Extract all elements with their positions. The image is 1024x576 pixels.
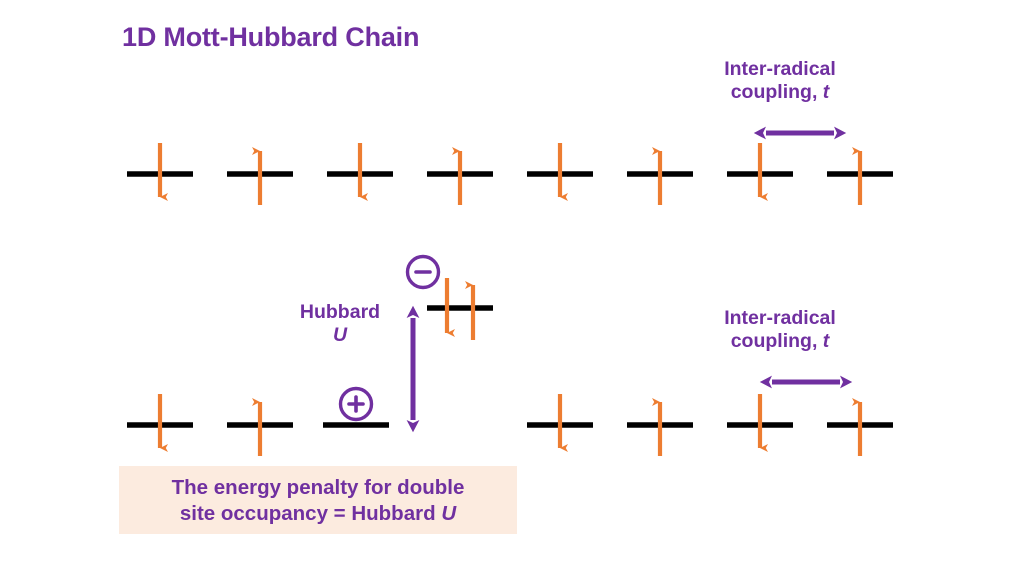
- site-group-top-8: [827, 151, 893, 205]
- bottom-chain: [127, 382, 893, 456]
- site-group-bottom-7: [727, 394, 793, 448]
- mott-hubbard-diagram: 1D Mott-Hubbard Chain Inter-radicalcoupl…: [0, 0, 1024, 576]
- coupling-label-bottom-line1: Inter-radical: [724, 307, 836, 329]
- site-group-top-4: [427, 151, 493, 205]
- site-group-bottom-3-empty: [323, 389, 389, 426]
- hubbard-u-label: HubbardU: [275, 301, 405, 347]
- coupling-symbol-t-bottom: t: [823, 330, 830, 352]
- site-group-top-6: [627, 151, 693, 205]
- site-group-top-2: [227, 151, 293, 205]
- caption-text: The energy penalty for doublesite occupa…: [119, 475, 517, 527]
- coupling-label-top: Inter-radicalcoupling, t: [670, 58, 890, 104]
- positive-charge-badge: [341, 389, 372, 420]
- site-group-bottom-8: [827, 402, 893, 456]
- caption-line2-prefix: site occupancy = Hubbard: [180, 502, 441, 525]
- coupling-label-top-line2: coupling,: [731, 81, 823, 103]
- negative-charge-badge: [408, 257, 439, 288]
- site-group-bottom-1: [127, 394, 193, 448]
- top-chain: [127, 133, 893, 205]
- site-group-bottom-6: [627, 402, 693, 456]
- caption-symbol-u: U: [441, 502, 456, 525]
- caption-line1: The energy penalty for double: [172, 476, 465, 499]
- page-title: 1D Mott-Hubbard Chain: [122, 22, 419, 54]
- site-group-top-5: [527, 143, 593, 197]
- hubbard-label-line1: Hubbard: [300, 301, 380, 323]
- site-group-top-1: [127, 143, 193, 197]
- site-group-top-7: [727, 143, 793, 197]
- coupling-label-bottom-line2: coupling,: [731, 330, 823, 352]
- coupling-symbol-t-top: t: [823, 81, 830, 103]
- site-group-top-3: [327, 143, 393, 197]
- hubbard-symbol-u: U: [333, 324, 347, 346]
- coupling-label-top-line1: Inter-radical: [724, 58, 836, 80]
- coupling-label-bottom: Inter-radicalcoupling, t: [670, 307, 890, 353]
- site-group-bottom-2: [227, 402, 293, 456]
- site-group-bottom-5: [527, 394, 593, 448]
- doubly-occupied-site: [408, 257, 494, 421]
